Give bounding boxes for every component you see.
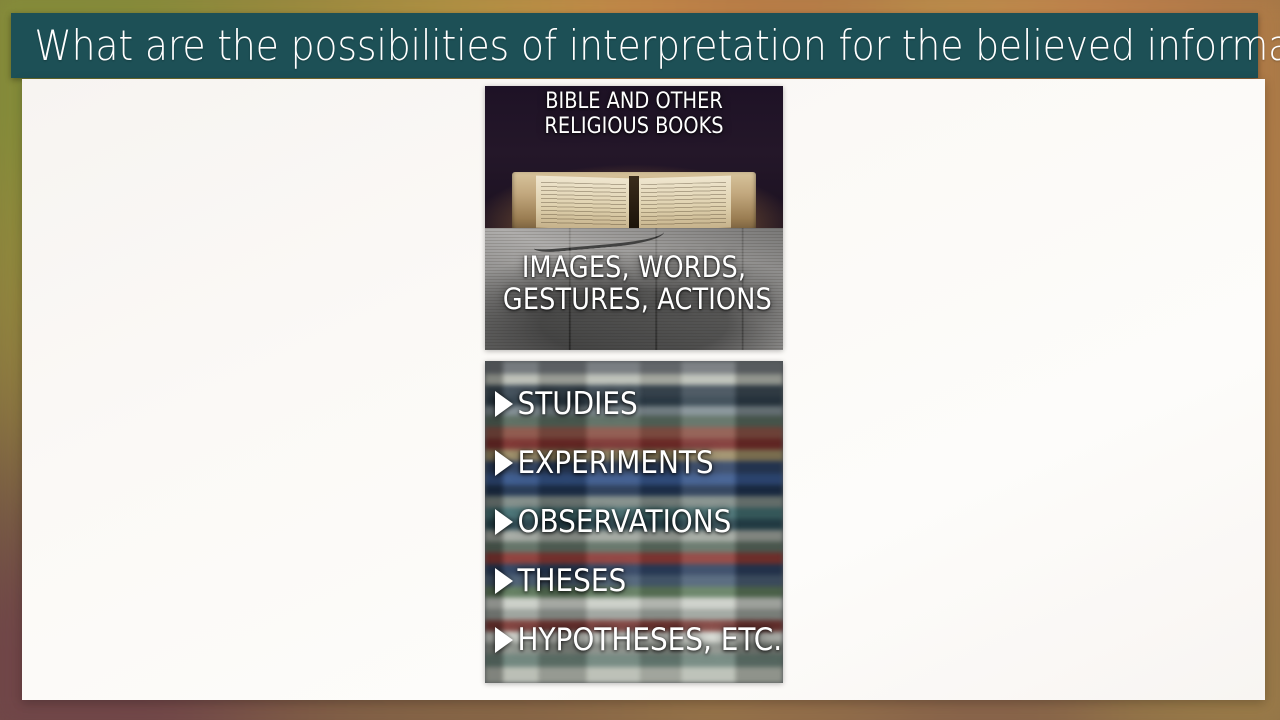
- triangle-bullet-icon: [495, 627, 513, 653]
- caption-line-1: IMAGES, WORDS,: [503, 251, 765, 283]
- research-types-list: STUDIES EXPERIMENTS OBSERVATIONS THESES: [485, 361, 783, 683]
- caption-line-1: BIBLE AND OTHER: [503, 90, 765, 115]
- list-item-label: EXPERIMENTS: [518, 445, 714, 481]
- caption-line-2: GESTURES, ACTIONS: [503, 283, 765, 315]
- list-item: OBSERVATIONS: [495, 493, 751, 552]
- triangle-bullet-icon: [495, 391, 513, 417]
- list-item: EXPERIMENTS: [495, 434, 751, 493]
- list-item-label: STUDIES: [518, 386, 638, 422]
- triangle-bullet-icon: [495, 509, 513, 535]
- slide-title: What are the possibilities of interpreta…: [11, 21, 1280, 70]
- media-forms-caption: IMAGES, WORDS, GESTURES, ACTIONS: [503, 251, 765, 316]
- list-item-label: HYPOTHESES, ETC.: [518, 622, 783, 658]
- list-item: THESES: [495, 552, 751, 611]
- religious-and-media-figure: BIBLE AND OTHER RELIGIOUS BOOKS IMAGES, …: [485, 86, 783, 350]
- list-item-label: THESES: [518, 563, 627, 599]
- list-item: HYPOTHESES, ETC.: [495, 611, 751, 670]
- slide-title-bar: What are the possibilities of interpreta…: [11, 13, 1258, 78]
- presentation-slide: What are the possibilities of interpreta…: [0, 0, 1280, 720]
- figure-column: BIBLE AND OTHER RELIGIOUS BOOKS IMAGES, …: [485, 86, 785, 683]
- caption-line-2: RELIGIOUS BOOKS: [503, 115, 765, 140]
- slide-content-panel: BIBLE AND OTHER RELIGIOUS BOOKS IMAGES, …: [22, 79, 1265, 700]
- list-item-label: OBSERVATIONS: [518, 504, 732, 540]
- book-stack-figure: STUDIES EXPERIMENTS OBSERVATIONS THESES: [485, 361, 783, 683]
- triangle-bullet-icon: [495, 568, 513, 594]
- religious-books-caption: BIBLE AND OTHER RELIGIOUS BOOKS: [503, 90, 765, 139]
- page-text-lines: [541, 182, 626, 226]
- list-item: STUDIES: [495, 375, 751, 434]
- triangle-bullet-icon: [495, 450, 513, 476]
